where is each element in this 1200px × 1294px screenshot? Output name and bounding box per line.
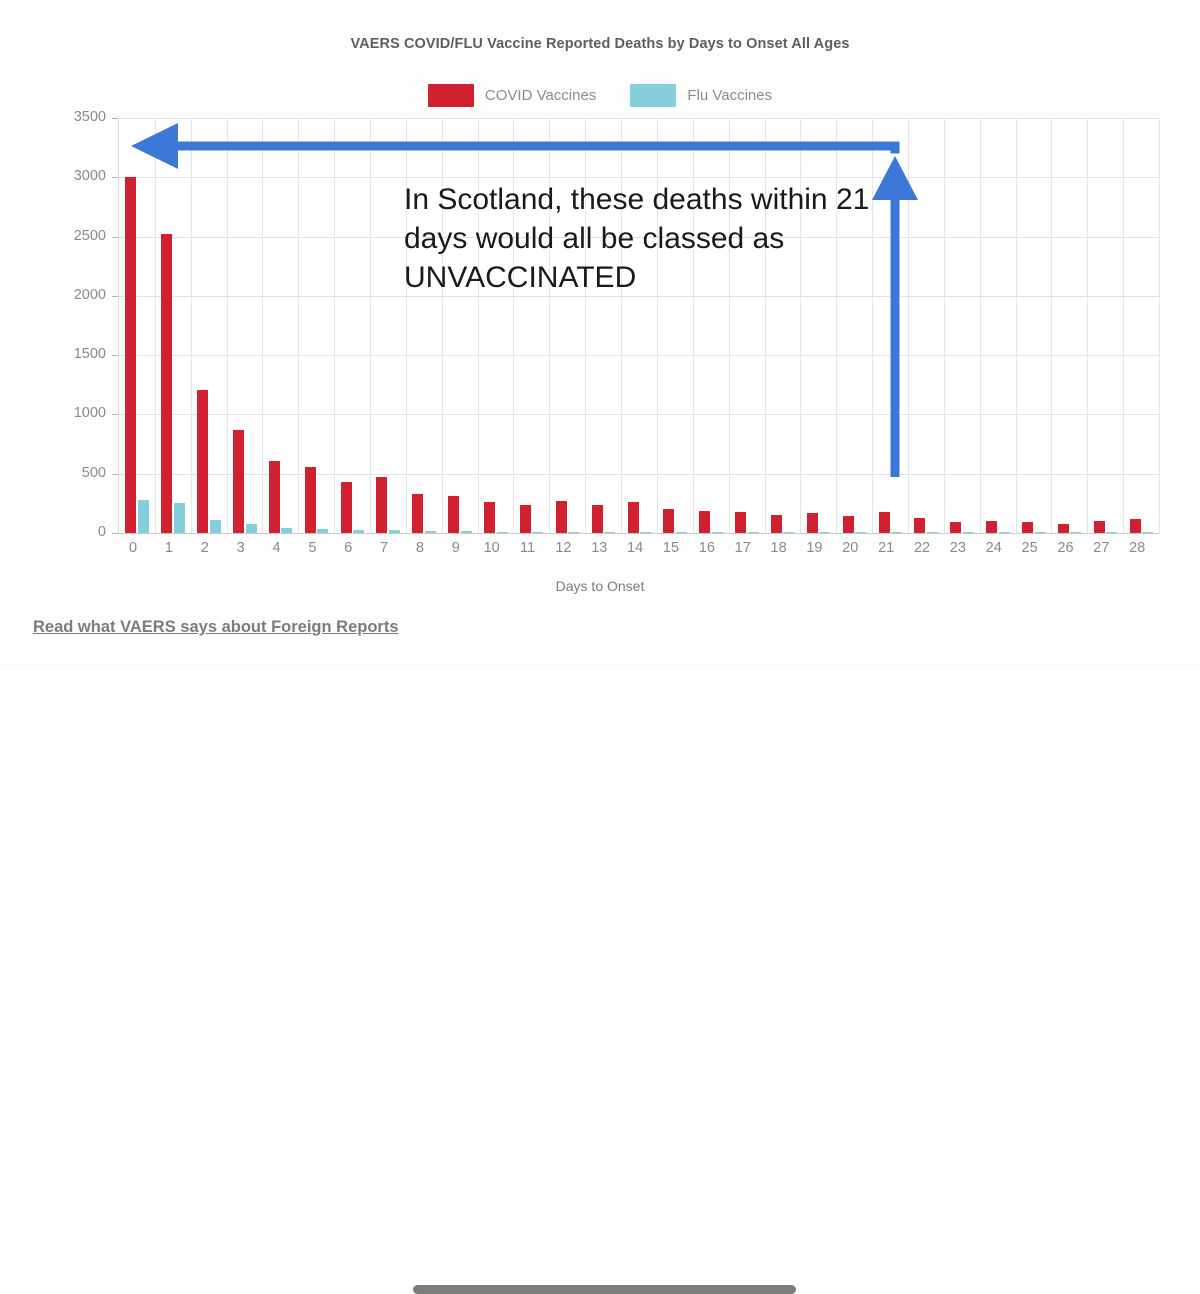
x-tick-label: 5 xyxy=(308,540,316,556)
y-tick-mark xyxy=(112,474,118,475)
x-tick-label: 9 xyxy=(452,540,460,556)
x-tick-label: 0 xyxy=(129,540,137,556)
x-tick-label: 12 xyxy=(555,540,571,556)
bar-covid[interactable] xyxy=(879,512,890,533)
gridline-vertical xyxy=(1087,118,1088,533)
x-tick-label: 1 xyxy=(165,540,173,556)
bar-covid[interactable] xyxy=(592,505,603,533)
bar-flu[interactable] xyxy=(640,532,651,534)
bar-covid[interactable] xyxy=(269,461,280,533)
gridline-vertical xyxy=(370,118,371,533)
bar-covid[interactable] xyxy=(161,234,172,533)
bar-covid[interactable] xyxy=(771,515,782,533)
legend-label-covid: COVID Vaccines xyxy=(485,87,596,104)
bar-flu[interactable] xyxy=(532,532,543,534)
gridline-vertical xyxy=(980,118,981,533)
legend-label-flu: Flu Vaccines xyxy=(687,87,772,104)
bar-covid[interactable] xyxy=(1058,524,1069,533)
horizontal-scrollbar-track[interactable] xyxy=(0,641,1200,657)
x-tick-label: 18 xyxy=(771,540,787,556)
x-tick-label: 23 xyxy=(950,540,966,556)
foreign-reports-link[interactable]: Read what VAERS says about Foreign Repor… xyxy=(33,618,399,637)
bar-flu[interactable] xyxy=(210,520,221,533)
gridline-vertical xyxy=(298,118,299,533)
bar-covid[interactable] xyxy=(197,390,208,533)
gridline-horizontal xyxy=(119,118,1159,119)
y-tick-label: 3500 xyxy=(36,109,106,125)
gridline-vertical xyxy=(1051,118,1052,533)
y-tick-mark xyxy=(112,533,118,534)
bar-covid[interactable] xyxy=(305,467,316,533)
annotation-text: In Scotland, these deaths within 21 days… xyxy=(404,180,874,297)
x-tick-label: 2 xyxy=(201,540,209,556)
horizontal-scrollbar-thumb[interactable] xyxy=(413,1285,796,1294)
chart-legend: COVID Vaccines Flu Vaccines xyxy=(0,84,1200,107)
bar-covid[interactable] xyxy=(484,502,495,533)
x-tick-label: 3 xyxy=(237,540,245,556)
bar-covid[interactable] xyxy=(520,505,531,533)
bar-flu[interactable] xyxy=(604,532,615,534)
x-tick-label: 11 xyxy=(520,540,535,556)
gridline-vertical xyxy=(1159,118,1160,533)
x-tick-label: 4 xyxy=(272,540,280,556)
bar-covid[interactable] xyxy=(341,482,352,533)
x-tick-label: 21 xyxy=(878,540,894,556)
x-tick-label: 10 xyxy=(484,540,500,556)
gridline-vertical xyxy=(155,118,156,533)
bar-flu[interactable] xyxy=(174,503,185,533)
x-tick-label: 7 xyxy=(380,540,388,556)
bar-flu[interactable] xyxy=(819,532,830,534)
bar-covid[interactable] xyxy=(950,522,961,533)
bar-flu[interactable] xyxy=(855,532,866,534)
bar-covid[interactable] xyxy=(699,511,710,533)
y-tick-label: 3000 xyxy=(36,168,106,184)
bar-covid[interactable] xyxy=(807,513,818,533)
bar-flu[interactable] xyxy=(425,531,436,533)
bar-covid[interactable] xyxy=(628,502,639,533)
gridline-vertical xyxy=(334,118,335,533)
bar-covid[interactable] xyxy=(663,509,674,533)
y-tick-mark xyxy=(112,296,118,297)
bar-flu[interactable] xyxy=(461,531,472,533)
bar-covid[interactable] xyxy=(914,518,925,533)
bar-covid[interactable] xyxy=(843,516,854,533)
bar-flu[interactable] xyxy=(1070,532,1081,534)
legend-swatch-covid xyxy=(428,84,474,107)
bar-covid[interactable] xyxy=(376,477,387,533)
y-tick-label: 1500 xyxy=(36,346,106,362)
bar-flu[interactable] xyxy=(281,528,292,533)
bar-flu[interactable] xyxy=(783,532,794,534)
bar-covid[interactable] xyxy=(1022,522,1033,533)
x-tick-label: 14 xyxy=(627,540,643,556)
bar-flu[interactable] xyxy=(891,532,902,534)
bar-covid[interactable] xyxy=(1130,519,1141,533)
legend-entry-covid[interactable]: COVID Vaccines xyxy=(428,84,596,107)
x-tick-label: 26 xyxy=(1057,540,1073,556)
x-tick-label: 24 xyxy=(986,540,1002,556)
gridline-horizontal xyxy=(119,355,1159,356)
bar-flu[interactable] xyxy=(138,500,149,533)
gridline-horizontal xyxy=(119,177,1159,178)
x-tick-label: 25 xyxy=(1022,540,1038,556)
y-tick-mark xyxy=(112,355,118,356)
x-tick-label: 8 xyxy=(416,540,424,556)
bar-flu[interactable] xyxy=(497,532,508,534)
gridline-vertical xyxy=(1123,118,1124,533)
x-tick-label: 22 xyxy=(914,540,930,556)
y-tick-label: 2000 xyxy=(36,287,106,303)
bar-flu[interactable] xyxy=(712,532,723,534)
x-tick-label: 20 xyxy=(842,540,858,556)
x-tick-label: 15 xyxy=(663,540,679,556)
bar-covid[interactable] xyxy=(735,512,746,533)
y-tick-mark xyxy=(112,118,118,119)
bar-covid[interactable] xyxy=(233,430,244,533)
legend-entry-flu[interactable]: Flu Vaccines xyxy=(630,84,772,107)
gridline-vertical xyxy=(1016,118,1017,533)
chart-title: VAERS COVID/FLU Vaccine Reported Deaths … xyxy=(0,36,1200,52)
bar-flu[interactable] xyxy=(748,532,759,534)
gridline-vertical xyxy=(227,118,228,533)
x-tick-label: 28 xyxy=(1129,540,1145,556)
x-tick-label: 27 xyxy=(1093,540,1109,556)
x-tick-label: 19 xyxy=(806,540,822,556)
gridline-vertical xyxy=(944,118,945,533)
x-tick-label: 13 xyxy=(591,540,607,556)
y-tick-mark xyxy=(112,177,118,178)
bar-flu[interactable] xyxy=(317,529,328,533)
bar-flu[interactable] xyxy=(389,530,400,533)
y-tick-label: 500 xyxy=(36,465,106,481)
bar-flu[interactable] xyxy=(1035,532,1046,534)
screenshot-canvas: VAERS COVID/FLU Vaccine Reported Deaths … xyxy=(0,0,1200,668)
bar-flu[interactable] xyxy=(1142,532,1153,534)
bar-covid[interactable] xyxy=(556,501,567,533)
x-tick-label: 6 xyxy=(344,540,352,556)
bar-flu[interactable] xyxy=(963,532,974,534)
x-tick-label: 16 xyxy=(699,540,715,556)
y-tick-label: 0 xyxy=(36,524,106,540)
bar-covid[interactable] xyxy=(1094,521,1105,533)
bar-flu[interactable] xyxy=(353,530,364,533)
bar-covid[interactable] xyxy=(412,494,423,533)
bar-covid[interactable] xyxy=(125,177,136,533)
gridline-horizontal xyxy=(119,414,1159,415)
x-tick-label: 17 xyxy=(735,540,751,556)
bar-flu[interactable] xyxy=(999,532,1010,534)
y-tick-label: 1000 xyxy=(36,405,106,421)
bar-flu[interactable] xyxy=(676,532,687,534)
bar-covid[interactable] xyxy=(986,521,997,533)
gridline-vertical xyxy=(191,118,192,533)
legend-swatch-flu xyxy=(630,84,676,107)
gridline-vertical xyxy=(262,118,263,533)
gridline-vertical xyxy=(908,118,909,533)
bar-flu[interactable] xyxy=(568,532,579,534)
bar-covid[interactable] xyxy=(448,496,459,533)
bar-flu[interactable] xyxy=(927,532,938,534)
bar-flu[interactable] xyxy=(1106,532,1117,534)
y-tick-label: 2500 xyxy=(36,228,106,244)
x-axis-label: Days to Onset xyxy=(0,578,1200,594)
y-tick-mark xyxy=(112,237,118,238)
y-tick-mark xyxy=(112,414,118,415)
bar-flu[interactable] xyxy=(246,524,257,533)
